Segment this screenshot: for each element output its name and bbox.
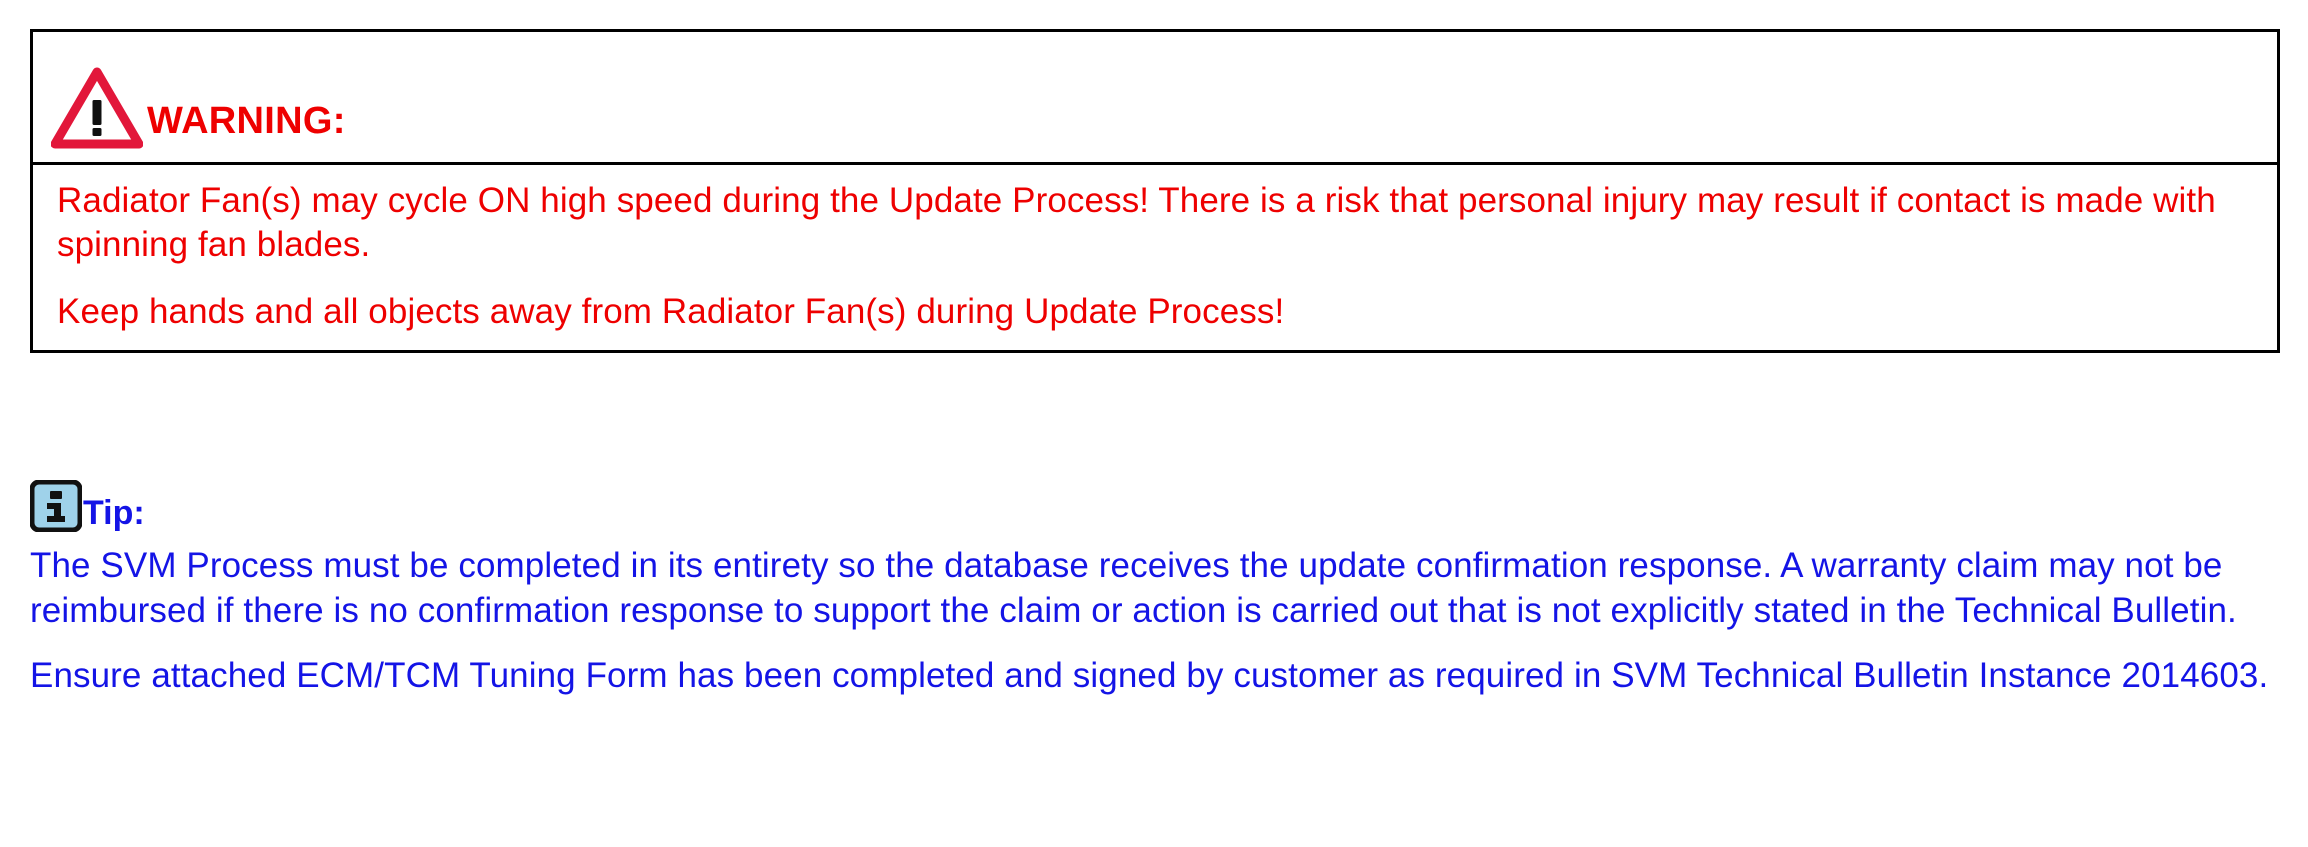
warning-header: WARNING: bbox=[33, 32, 2277, 165]
warning-paragraph: Radiator Fan(s) may cycle ON high speed … bbox=[57, 179, 2253, 268]
tip-body: The SVM Process must be completed in its… bbox=[30, 544, 2280, 698]
tip-title: Tip: bbox=[83, 496, 145, 530]
warning-callout-box: WARNING: Radiator Fan(s) may cycle ON hi… bbox=[30, 29, 2280, 353]
tip-callout-section: Tip: The SVM Process must be completed i… bbox=[30, 470, 2280, 698]
tip-header: Tip: bbox=[30, 470, 2280, 532]
tip-paragraph: The SVM Process must be completed in its… bbox=[30, 544, 2280, 634]
warning-body: Radiator Fan(s) may cycle ON high speed … bbox=[33, 165, 2277, 350]
tip-paragraph: Ensure attached ECM/TCM Tuning Form has … bbox=[30, 654, 2280, 699]
warning-paragraph: Keep hands and all objects away from Rad… bbox=[57, 290, 2253, 334]
warning-title: WARNING: bbox=[147, 102, 346, 140]
info-icon bbox=[30, 480, 82, 532]
warning-triangle-icon bbox=[51, 66, 143, 150]
document-page: WARNING: Radiator Fan(s) may cycle ON hi… bbox=[0, 0, 2308, 847]
